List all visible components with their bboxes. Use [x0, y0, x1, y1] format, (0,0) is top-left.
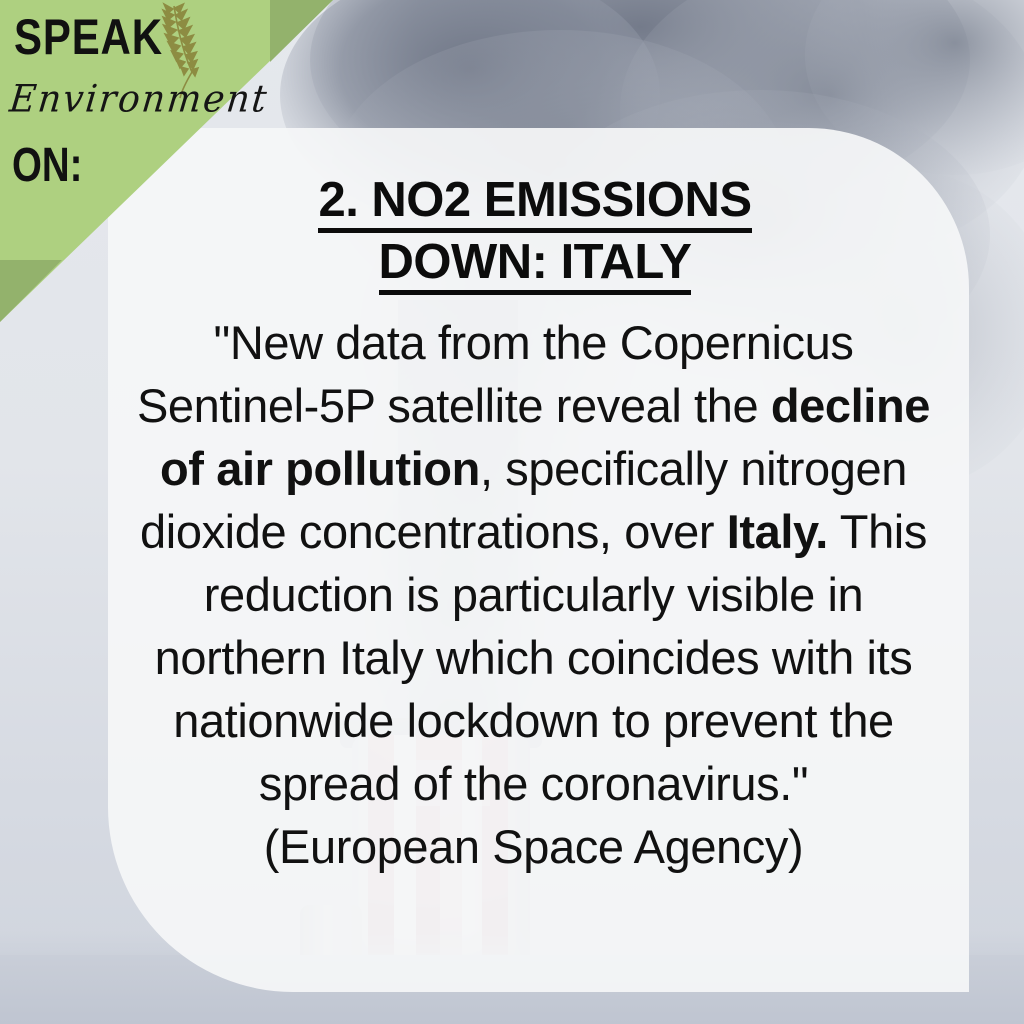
brand-corner-banner: SPEAK	[0, 0, 340, 330]
brand-prefix: ON:	[12, 142, 82, 190]
emphasis-text: Italy.	[727, 505, 828, 558]
brand-tagline: Environment	[7, 78, 270, 121]
body-text: "New data from the Copernicus Sentinel-5…	[126, 312, 941, 879]
quote-paragraph: "New data from the Copernicus Sentinel-5…	[137, 316, 930, 810]
poster-canvas: 2. NO2 EMISSIONS DOWN: ITALY "New data f…	[0, 0, 1024, 1024]
source-attribution: (European Space Agency)	[126, 816, 941, 879]
plain-text: "New data from the Copernicus Sentinel-5…	[137, 316, 853, 432]
